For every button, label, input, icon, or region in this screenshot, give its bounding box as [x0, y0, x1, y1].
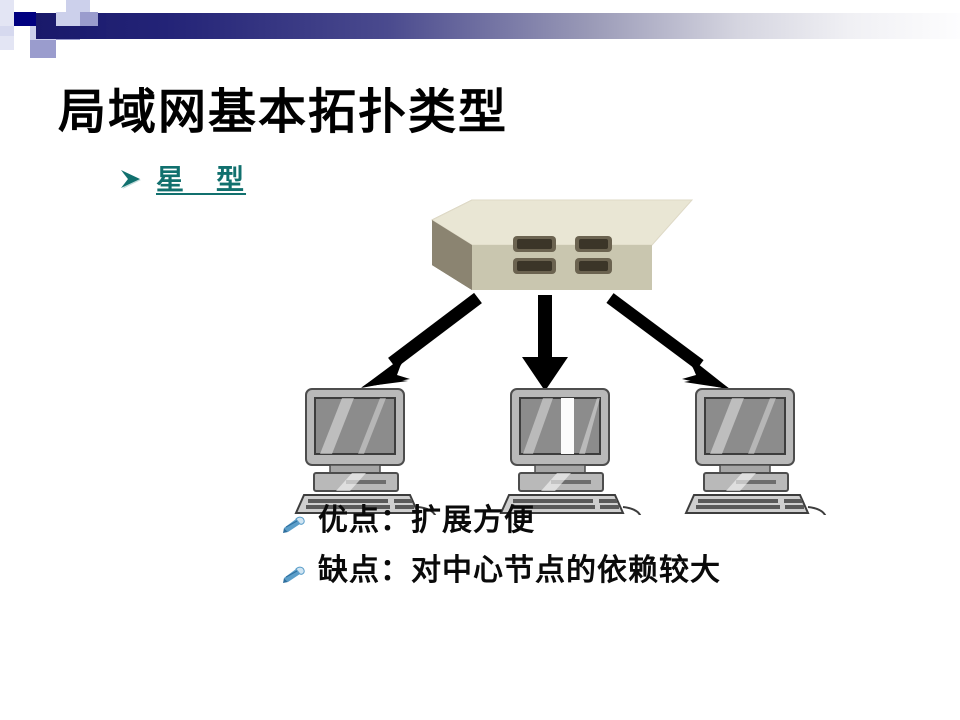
link-arrows [361, 295, 731, 391]
star-topology-diagram [0, 195, 960, 515]
computer-left [296, 389, 436, 515]
computer-center [501, 389, 641, 515]
pen-bullet-icon [282, 512, 308, 538]
note-text: 缺点：对中心节点的依赖较大 [318, 552, 721, 590]
header-gradient-bar [36, 13, 960, 39]
deco-square-2 [66, 0, 90, 12]
deco-square-navy-front [14, 12, 36, 26]
arrow-to-right-computer [610, 298, 731, 390]
arrow-to-center-computer [522, 295, 568, 391]
arrow-bullet-icon [118, 166, 144, 192]
computer-right [686, 389, 826, 515]
hub-switch-device [432, 200, 692, 290]
subtitle-row: 星 型 [118, 158, 246, 198]
note-item-disadvantage: 缺点：对中心节点的依赖较大 [282, 552, 902, 590]
pen-bullet-icon [282, 562, 308, 588]
deco-square-3-front [56, 12, 80, 26]
deco-square-4-front [80, 12, 98, 26]
subtitle-label: 星 型 [156, 158, 246, 198]
deco-square-5 [0, 26, 14, 50]
deco-square-8 [30, 40, 56, 58]
note-item-advantage: 优点：扩展方便 [282, 502, 902, 540]
page-title: 局域网基本拓扑类型 [58, 88, 508, 136]
note-text: 优点：扩展方便 [318, 502, 535, 540]
notes-list: 优点：扩展方便 缺点：对中心节点的依赖较大 [282, 502, 902, 601]
slide-canvas: 局域网基本拓扑类型 星 型 [0, 0, 960, 720]
arrow-to-left-computer [361, 298, 478, 388]
